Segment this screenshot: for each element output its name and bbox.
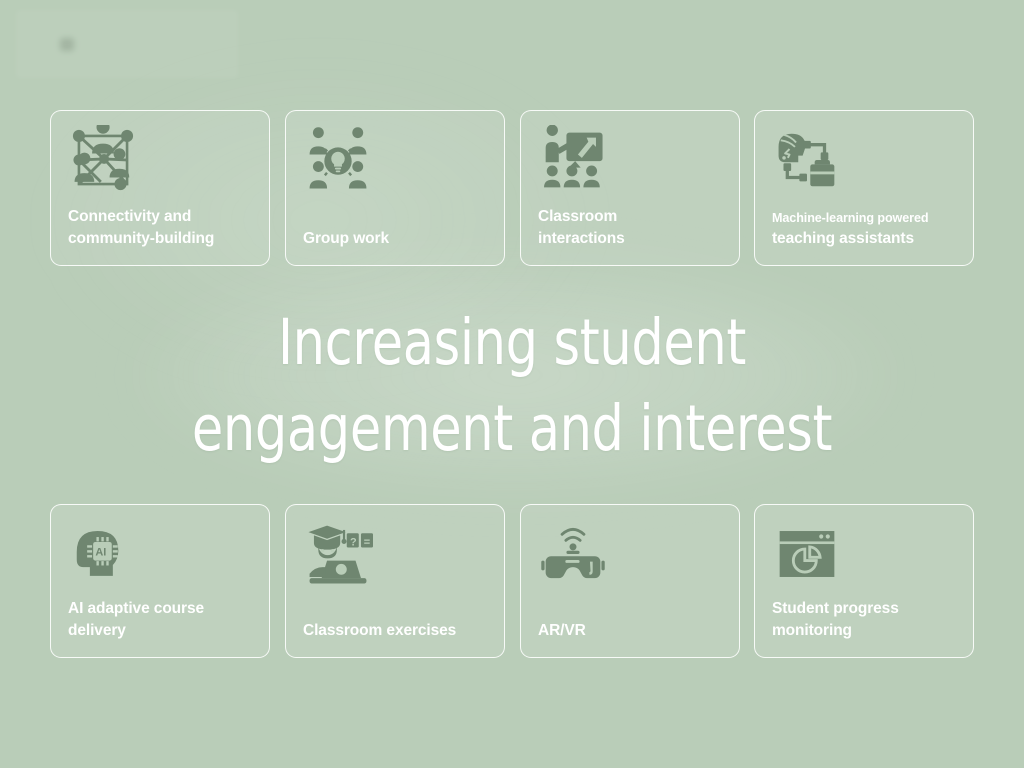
card-classroom-interactions[interactable]: Classroom interactions (520, 110, 740, 266)
card-label: Classroom exercises (303, 620, 492, 642)
svg-text:?: ? (350, 536, 357, 548)
card-student-progress-monitoring[interactable]: Student progress monitoring (754, 504, 974, 658)
card-classroom-exercises[interactable]: ? = Classroom exercises (285, 504, 505, 658)
svg-text:AI: AI (95, 547, 106, 559)
headline-line-1: Increasing student (51, 300, 973, 386)
teacher-presentation-icon (538, 125, 608, 195)
card-ar-vr[interactable]: AR/VR (520, 504, 740, 658)
card-ai-adaptive-course-delivery[interactable]: AI AI adaptive cou (50, 504, 270, 658)
card-label: Connectivity and community-building (68, 206, 257, 250)
svg-text:=: = (364, 536, 370, 548)
slide-canvas: Connectivity and community-building (0, 0, 1024, 768)
brain-network-briefcase-icon (772, 125, 842, 195)
card-label: AI adaptive course delivery (68, 598, 257, 642)
headline-line-2: engagement and interest (51, 386, 973, 472)
logo-mark-icon (60, 38, 74, 51)
group-lightbulb-icon (303, 125, 373, 195)
card-label: Group work (303, 228, 492, 250)
card-connectivity[interactable]: Connectivity and community-building (50, 110, 270, 266)
network-people-icon (68, 125, 138, 195)
card-label: Classroom interactions (538, 206, 727, 250)
browser-pie-chart-icon (772, 519, 842, 589)
slide-headline: Increasing student engagement and intere… (0, 300, 1024, 473)
vr-headset-icon (538, 519, 608, 589)
card-ml-teaching-assistants[interactable]: Machine-learning powered teaching assist… (754, 110, 974, 266)
logo-placeholder (16, 10, 238, 78)
card-label: AR/VR (538, 620, 727, 642)
card-group-work[interactable]: Group work (285, 110, 505, 266)
card-label: Machine-learning powered teaching assist… (772, 209, 961, 250)
card-label: Student progress monitoring (772, 598, 961, 642)
graduate-laptop-icon: ? = (303, 519, 373, 589)
ai-head-chip-icon: AI (68, 519, 138, 589)
